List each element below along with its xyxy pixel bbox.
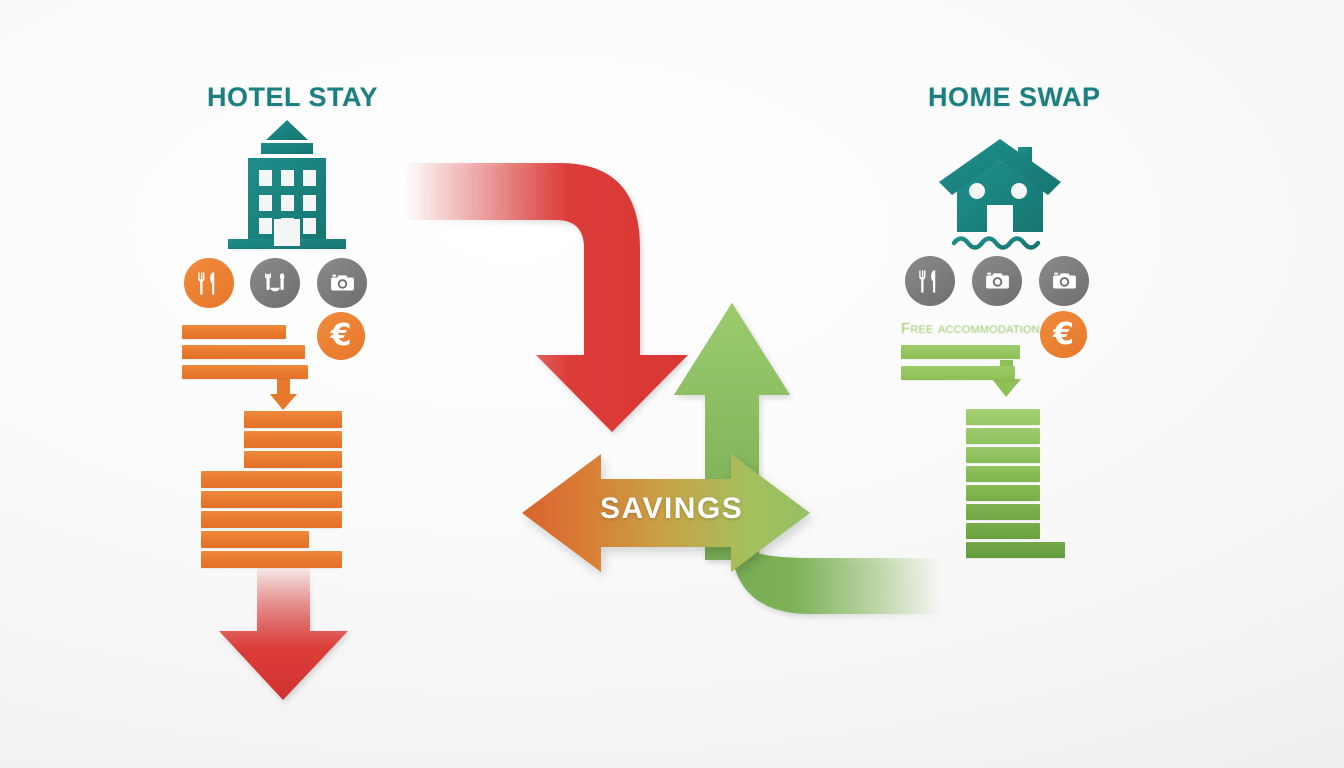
free-accommodation-label: Free accommodation	[901, 320, 1040, 337]
page-title-hotel-stay: HOTEL STAY	[207, 82, 378, 113]
bar-item	[201, 471, 342, 488]
euro-icon-left[interactable]: €	[317, 312, 365, 360]
bar-item	[201, 551, 342, 568]
bar-item	[901, 345, 1020, 359]
euro-symbol: €	[1053, 320, 1074, 350]
page-title-home-swap: HOME SWAP	[928, 82, 1101, 113]
bar-item	[201, 531, 309, 548]
red-curved-down-arrow	[405, 163, 688, 432]
camera-icon[interactable]	[1039, 256, 1089, 306]
bar-item	[966, 542, 1065, 558]
bar-item	[182, 345, 305, 359]
restaurant-cutlery-icon[interactable]	[250, 258, 300, 308]
euro-icon-right[interactable]: €	[1040, 311, 1087, 358]
bar-item	[201, 491, 342, 508]
bar-item	[966, 466, 1040, 482]
bar-item	[966, 447, 1040, 463]
camera-icon[interactable]	[972, 256, 1022, 306]
bar-item	[966, 428, 1040, 444]
hotel-building-icon	[228, 118, 346, 258]
bar-item	[966, 523, 1040, 539]
double-headed-savings-arrow	[522, 454, 810, 572]
fork-knife-icon[interactable]	[905, 256, 955, 306]
small-down-arrow-icon-left	[270, 379, 297, 410]
bar-item	[244, 431, 342, 448]
bar-item	[901, 366, 1015, 380]
bar-item	[182, 365, 308, 379]
flow-arrow-layer	[0, 0, 1344, 768]
large-red-down-arrow-icon	[219, 566, 348, 700]
bar-item	[244, 451, 342, 468]
bar-item	[966, 409, 1040, 425]
bar-item	[182, 325, 286, 339]
euro-symbol: €	[331, 321, 352, 351]
bar-item	[966, 485, 1040, 501]
bar-item	[201, 511, 342, 528]
home-house-icon	[935, 135, 1065, 257]
infographic-canvas: HOTEL STAY	[0, 0, 1344, 768]
fork-knife-icon[interactable]	[184, 258, 234, 308]
camera-icon[interactable]	[317, 258, 367, 308]
bar-item	[244, 411, 342, 428]
bar-item	[966, 504, 1040, 520]
